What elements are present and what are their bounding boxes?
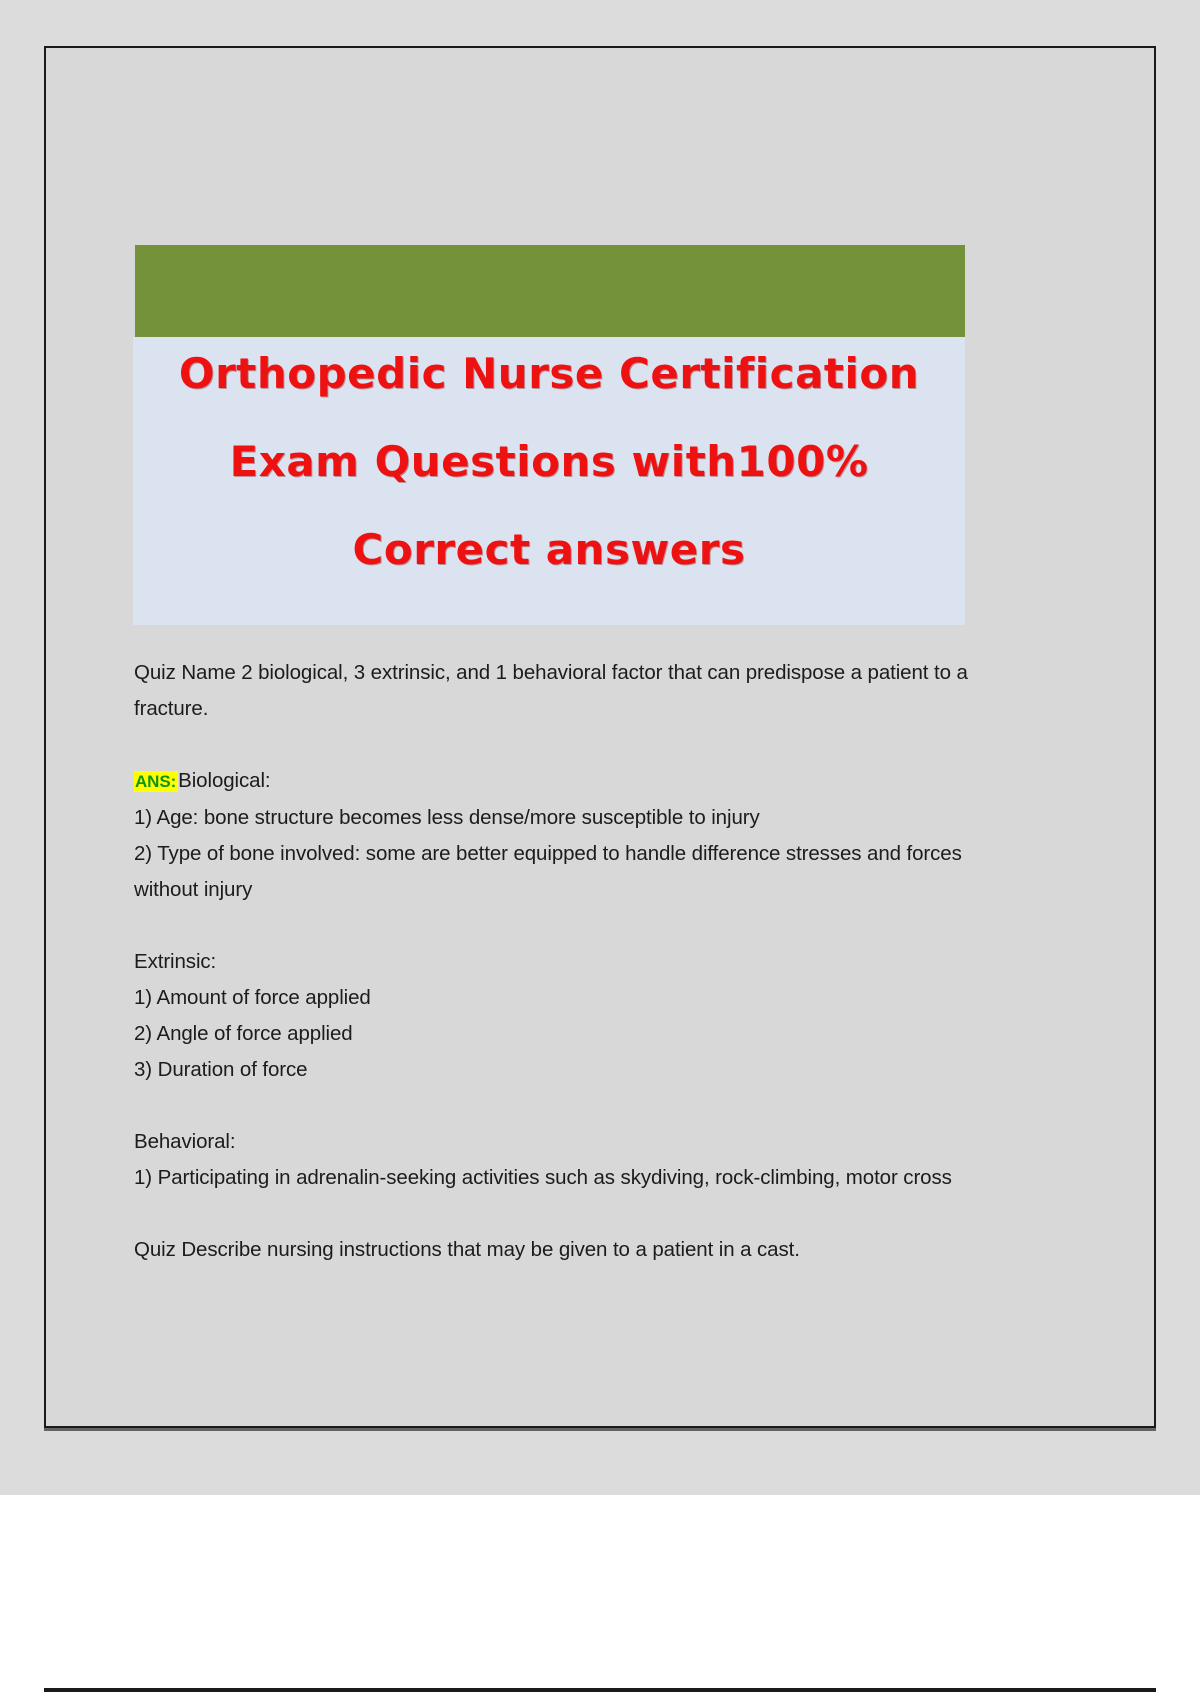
page-gutter [0, 1495, 1200, 1700]
extrinsic-item-1: 1) Amount of force applied [134, 980, 1014, 1016]
title-block: Orthopedic Nurse Certification Exam Ques… [133, 337, 965, 625]
biological-item-2: 2) Type of bone involved: some are bette… [134, 836, 1014, 908]
paragraph-spacer [134, 908, 1014, 944]
next-page-top-edge [44, 1688, 1156, 1692]
title-green-banner [135, 245, 965, 337]
paragraph-spacer [134, 1196, 1014, 1232]
document-title-line-2: Exam Questions with100% [230, 441, 869, 483]
extrinsic-item-3: 3) Duration of force [134, 1052, 1014, 1088]
document-title-line-1: Orthopedic Nurse Certification [179, 353, 919, 395]
document-body: Quiz Name 2 biological, 3 extrinsic, and… [134, 655, 1014, 1268]
heading-extrinsic: Extrinsic: [134, 944, 1014, 980]
answer-heading-biological: ANS:Biological: [134, 763, 1014, 800]
question-1-text: Quiz Name 2 biological, 3 extrinsic, and… [134, 655, 1014, 727]
extrinsic-item-2: 2) Angle of force applied [134, 1016, 1014, 1052]
document-title-line-3: Correct answers [353, 529, 746, 571]
paragraph-spacer [134, 727, 1014, 763]
heading-behavioral: Behavioral: [134, 1124, 1014, 1160]
question-2-text: Quiz Describe nursing instructions that … [134, 1232, 1014, 1268]
biological-item-1: 1) Age: bone structure becomes less dens… [134, 800, 1014, 836]
document-page: Orthopedic Nurse Certification Exam Ques… [44, 46, 1156, 1428]
document-viewer: Orthopedic Nurse Certification Exam Ques… [0, 0, 1200, 1495]
answer-heading-biological-text: Biological: [178, 769, 270, 792]
behavioral-item-1: 1) Participating in adrenalin-seeking ac… [134, 1160, 1014, 1196]
ans-label-highlight: ANS: [134, 771, 178, 792]
paragraph-spacer [134, 1088, 1014, 1124]
